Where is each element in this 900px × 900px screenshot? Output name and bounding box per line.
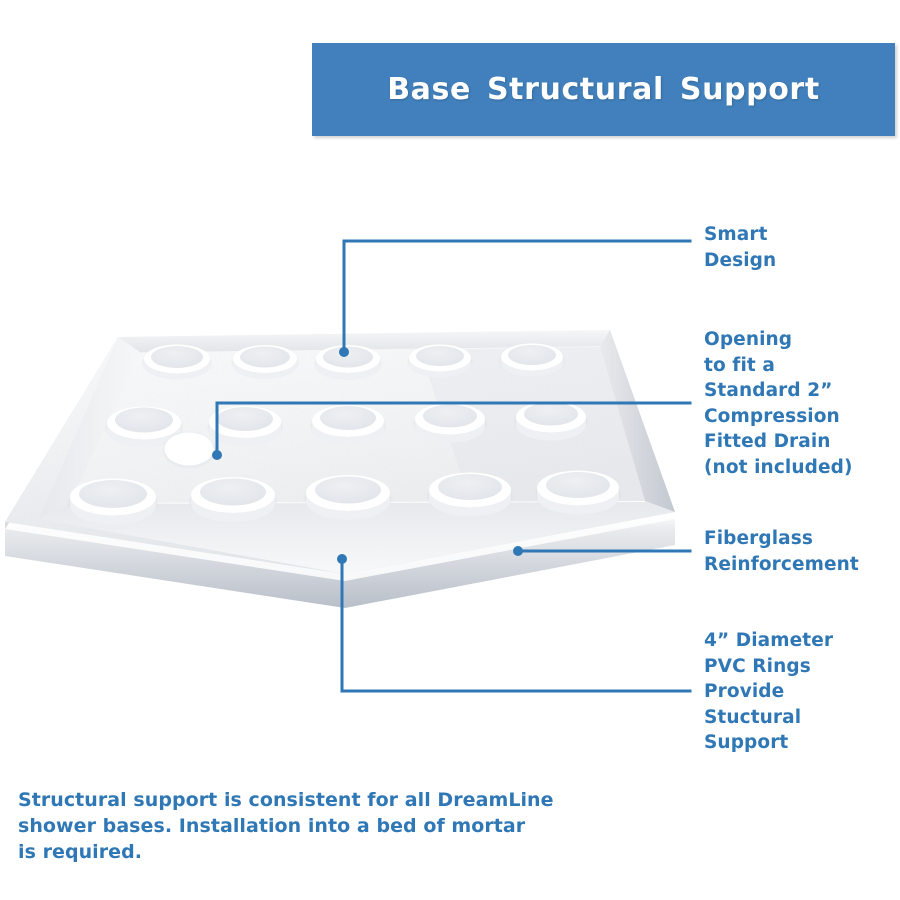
- pvc-ring: [305, 475, 391, 520]
- pvc-ring: [315, 345, 381, 380]
- callout-label-drain-opening: Opening to fit a Standard 2” Compression…: [704, 327, 853, 480]
- pvc-ring: [408, 345, 472, 378]
- pvc-ring: [500, 344, 564, 377]
- footer-note: Structural support is consistent for all…: [18, 787, 638, 865]
- drain-opening: [163, 432, 215, 468]
- callout-label-fiberglass-reinforcement: Fiberglass Reinforcement: [704, 526, 859, 577]
- page-root: Base Structural Support Smart Design Ope…: [0, 0, 900, 900]
- pvc-ring: [208, 406, 282, 446]
- pvc-ring: [536, 471, 620, 515]
- pvc-ring: [190, 477, 276, 522]
- pvc-ring: [69, 479, 157, 525]
- pvc-ring: [414, 404, 486, 443]
- pvc-ring: [143, 345, 211, 380]
- header-banner: Base Structural Support: [312, 43, 895, 136]
- callout-label-pvc-rings: 4” Diameter PVC Rings Provide Stuctural …: [704, 628, 833, 756]
- callout-label-smart-design: Smart Design: [704, 222, 776, 273]
- pvc-ring: [232, 345, 298, 379]
- pvc-ring: [428, 473, 512, 517]
- pvc-ring: [515, 402, 587, 441]
- pvc-ring: [311, 405, 385, 445]
- page-title: Base Structural Support: [312, 71, 895, 106]
